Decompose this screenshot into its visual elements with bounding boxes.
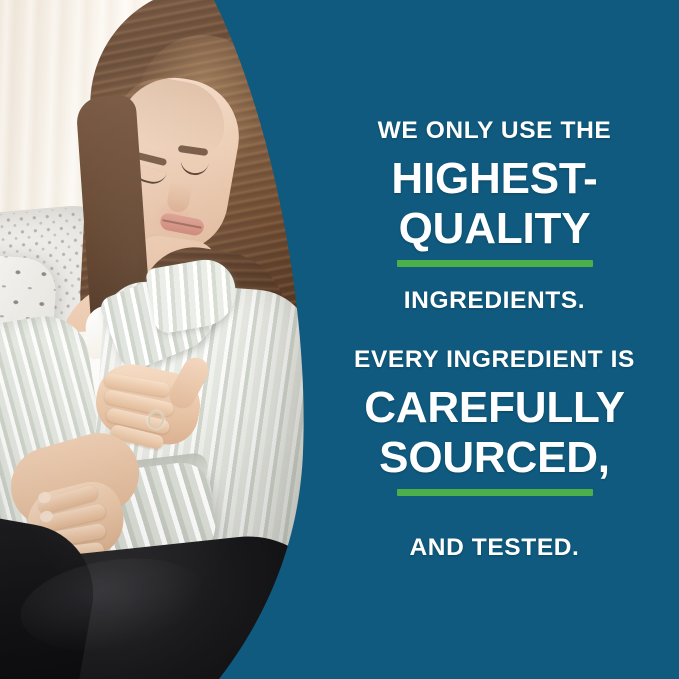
- headline-sourced: SOURCED,: [379, 436, 610, 480]
- headline-line-1: WE ONLY USE THE: [378, 119, 612, 144]
- accent-rule-quality: [397, 260, 593, 267]
- headline-highest: HIGHEST-: [391, 157, 597, 201]
- subhead-every-ingredient: EVERY INGREDIENT IS: [354, 348, 635, 373]
- headline-and-tested: AND TESTED.: [410, 536, 580, 561]
- headline-quality: QUALITY: [399, 207, 591, 251]
- lifestyle-photo: [0, 0, 320, 679]
- message-panel: WE ONLY USE THE HIGHEST- QUALITY INGREDI…: [310, 0, 679, 679]
- promo-banner: WE ONLY USE THE HIGHEST- QUALITY INGREDI…: [0, 0, 679, 679]
- accent-rule-sourced: [397, 489, 593, 496]
- headline-carefully: CAREFULLY: [364, 386, 625, 430]
- headline-ingredients: INGREDIENTS.: [404, 289, 585, 314]
